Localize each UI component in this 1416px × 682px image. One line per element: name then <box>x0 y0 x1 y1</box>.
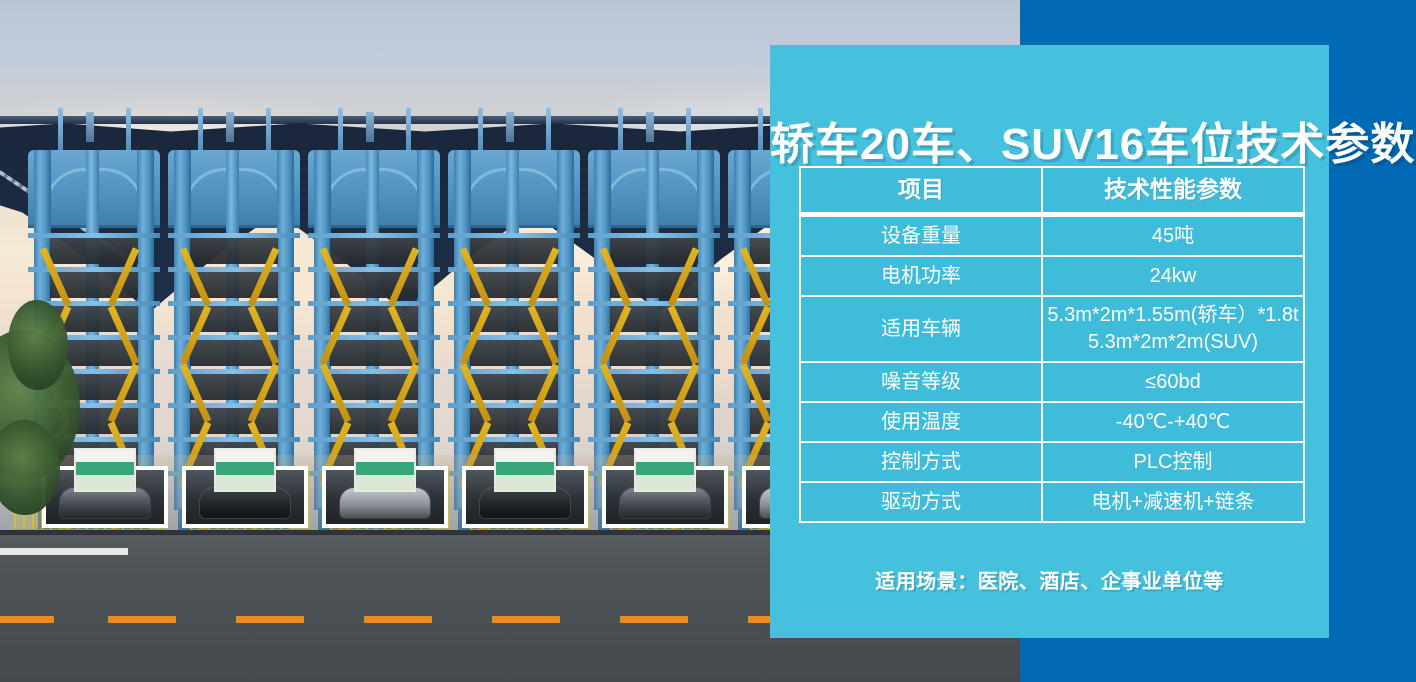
cell-value: 24kw <box>1042 256 1304 296</box>
tower-rail <box>588 403 720 408</box>
tree <box>8 300 68 390</box>
tower-rail <box>448 437 580 442</box>
control-panel-box <box>634 448 696 492</box>
tower-rail <box>28 233 160 238</box>
tower-rail <box>168 301 300 306</box>
lane-marking <box>492 616 560 623</box>
parked-car <box>620 488 710 518</box>
control-panel-box <box>74 448 136 492</box>
tower-rail <box>448 301 580 306</box>
table-row: 电机功率24kw <box>800 256 1304 296</box>
tower-rail <box>308 301 440 306</box>
tower-car-tray <box>610 236 698 264</box>
lane-marking <box>364 616 432 623</box>
cell-value-line: 5.3m*2m*2m(SUV) <box>1043 329 1303 356</box>
tower-car-tray <box>470 236 558 264</box>
table-row: 控制方式PLC控制 <box>800 442 1304 482</box>
canopy-mast <box>506 112 514 142</box>
cell-item: 使用温度 <box>800 402 1042 442</box>
tower-rail <box>308 335 440 340</box>
lane-marking <box>620 616 688 623</box>
tower-rail <box>448 233 580 238</box>
tower-rail <box>308 403 440 408</box>
tower-rail <box>168 335 300 340</box>
parked-car <box>480 488 570 518</box>
tower-rail <box>588 437 720 442</box>
table-row: 驱动方式电机+减速机+链条 <box>800 482 1304 522</box>
column-header-item: 项目 <box>800 167 1042 215</box>
cell-value: 电机+减速机+链条 <box>1042 482 1304 522</box>
canopy-mast <box>646 112 654 142</box>
tower-rail <box>308 233 440 238</box>
canopy-mast <box>86 112 94 142</box>
curb-marking <box>0 548 128 555</box>
cell-value: ≤60bd <box>1042 362 1304 402</box>
cell-item: 设备重量 <box>800 215 1042 257</box>
table-row: 适用车辆5.3m*2m*1.55m(轿车）*1.8t5.3m*2m*2m(SUV… <box>800 296 1304 362</box>
tower-rail <box>448 335 580 340</box>
table-header-row: 项目 技术性能参数 <box>800 167 1304 215</box>
control-panel-box <box>214 448 276 492</box>
cell-value-line: 5.3m*2m*1.55m(轿车）*1.8t <box>1043 302 1303 329</box>
tower-car-tray <box>190 236 278 264</box>
applicable-scenarios-note: 适用场景：医院、酒店、企事业单位等 <box>770 565 1329 594</box>
canopy-mast <box>366 112 374 142</box>
lane-marking <box>236 616 304 623</box>
table-row: 噪音等级≤60bd <box>800 362 1304 402</box>
canopy-mast <box>226 112 234 142</box>
cell-value: PLC控制 <box>1042 442 1304 482</box>
tower-rail <box>308 437 440 442</box>
tower-car-tray <box>330 236 418 264</box>
tower-rail <box>168 233 300 238</box>
tower-rail <box>448 403 580 408</box>
parked-car <box>60 488 150 518</box>
tower-car-tray <box>50 236 138 264</box>
lane-marking <box>0 616 54 623</box>
spec-card: 轿车20车、SUV16车位技术参数 项目 技术性能参数 设备重量45吨电机功率2… <box>770 45 1329 638</box>
page-title: 轿车20车、SUV16车位技术参数 <box>770 123 1329 167</box>
control-panel-box <box>354 448 416 492</box>
spec-table: 项目 技术性能参数 设备重量45吨电机功率24kw适用车辆5.3m*2m*1.5… <box>799 166 1305 523</box>
lane-marking <box>108 616 176 623</box>
tower-rail <box>168 403 300 408</box>
tower-rail <box>588 301 720 306</box>
tower-rail <box>588 233 720 238</box>
table-row: 使用温度-40℃-+40℃ <box>800 402 1304 442</box>
cell-item: 适用车辆 <box>800 296 1042 362</box>
poster-stage: 轿车20车、SUV16车位技术参数 项目 技术性能参数 设备重量45吨电机功率2… <box>0 0 1416 682</box>
column-header-value: 技术性能参数 <box>1042 167 1304 215</box>
cell-item: 驱动方式 <box>800 482 1042 522</box>
tower-rail <box>168 437 300 442</box>
table-body: 设备重量45吨电机功率24kw适用车辆5.3m*2m*1.55m(轿车）*1.8… <box>800 215 1304 523</box>
cell-value: 5.3m*2m*1.55m(轿车）*1.8t5.3m*2m*2m(SUV) <box>1042 296 1304 362</box>
parked-car <box>200 488 290 518</box>
table-row: 设备重量45吨 <box>800 215 1304 257</box>
parked-car <box>340 488 430 518</box>
cell-item: 噪音等级 <box>800 362 1042 402</box>
tower-rail <box>588 335 720 340</box>
cell-value: -40℃-+40℃ <box>1042 402 1304 442</box>
cell-item: 控制方式 <box>800 442 1042 482</box>
cell-item: 电机功率 <box>800 256 1042 296</box>
control-panel-box <box>494 448 556 492</box>
cell-value: 45吨 <box>1042 215 1304 257</box>
